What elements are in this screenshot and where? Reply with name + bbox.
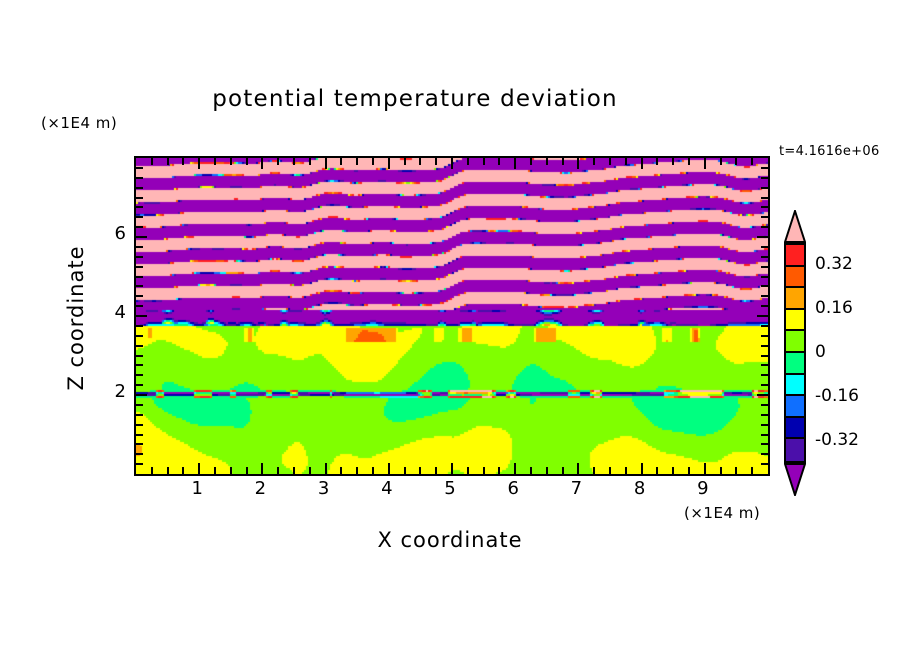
x-axis-tick (246, 467, 248, 474)
x-axis-tick (625, 467, 627, 474)
page-title: potential temperature deviation (0, 86, 830, 112)
z-axis-tick (136, 355, 143, 357)
x-axis-tick-label: 3 (304, 478, 344, 499)
z-axis-tick-right (761, 463, 768, 465)
z-axis-tick-right (757, 236, 768, 238)
x-axis-tick (435, 467, 437, 474)
z-axis-tick-right (761, 404, 768, 406)
z-axis-tick (136, 434, 143, 436)
x-axis-tick-top (182, 158, 184, 165)
x-axis-tick-top (467, 158, 469, 165)
x-axis-tick-top (309, 158, 311, 165)
z-axis-unit-label: (×1E4 m) (41, 114, 117, 132)
z-axis-tick-right (761, 295, 768, 297)
x-axis-tick (261, 463, 263, 474)
x-axis-tick-top (167, 158, 169, 165)
x-axis-tick (609, 467, 611, 474)
x-axis-tick (641, 463, 643, 474)
x-axis-tick-top (340, 158, 342, 165)
x-axis-tick-top (483, 158, 485, 165)
x-axis-unit-label: (×1E4 m) (684, 504, 760, 522)
z-axis-tick-right (761, 246, 768, 248)
x-axis-tick (340, 467, 342, 474)
x-axis-tick-top (562, 158, 564, 165)
x-axis-tick-top (261, 158, 263, 169)
colorbar-band (786, 310, 804, 332)
colorbar-gradient (784, 243, 806, 463)
x-axis-tick-top (751, 158, 753, 165)
z-axis-tick-right (761, 187, 768, 189)
x-axis-tick (309, 467, 311, 474)
x-axis-tick (325, 463, 327, 474)
x-axis-tick-top (198, 158, 200, 169)
time-annotation: t=4.1616e+06 (779, 144, 880, 159)
x-axis-tick (704, 463, 706, 474)
x-axis-tick (467, 467, 469, 474)
colorbar-band (786, 267, 804, 289)
z-axis-tick (136, 226, 143, 228)
z-axis-tick-right (761, 414, 768, 416)
colorbar-tick-label: 0 (815, 342, 826, 362)
x-axis-tick (514, 463, 516, 474)
z-axis-tick (136, 276, 143, 278)
z-axis-tick (136, 315, 147, 317)
x-axis-tick (372, 467, 374, 474)
z-axis-tick (136, 177, 143, 179)
z-axis-tick (136, 404, 143, 406)
x-axis-tick (198, 463, 200, 474)
colorbar-tick-label: -0.16 (815, 386, 859, 406)
x-axis-tick-top (498, 158, 500, 165)
x-axis-tick-top (356, 158, 358, 165)
colorbar-band (786, 331, 804, 353)
colorbar-band (786, 353, 804, 375)
x-axis-tick-top (419, 158, 421, 165)
colorbar-band (786, 245, 804, 267)
x-axis-tick (419, 467, 421, 474)
x-axis-tick (672, 467, 674, 474)
x-axis-tick (546, 467, 548, 474)
colorbar-band (786, 439, 804, 461)
x-axis-tick-top (577, 158, 579, 169)
z-axis-tick (136, 256, 143, 258)
z-axis-tick-right (761, 206, 768, 208)
x-axis-tick (277, 467, 279, 474)
z-axis-tick-right (761, 345, 768, 347)
y-axis-title: Z coordinate (64, 208, 88, 428)
z-axis-tick-right (761, 453, 768, 455)
x-axis-tick (735, 467, 737, 474)
x-axis-tick-top (720, 158, 722, 165)
z-axis-tick (136, 453, 143, 455)
colorbar-band (786, 375, 804, 397)
x-axis-tick (293, 467, 295, 474)
z-axis-tick-right (761, 364, 768, 366)
x-axis-tick-top (593, 158, 595, 165)
colorbar-band (786, 288, 804, 310)
z-axis-tick-label: 4 (86, 302, 126, 323)
z-axis-tick-right (761, 276, 768, 278)
z-axis-tick-right (761, 216, 768, 218)
x-axis-tick-top (546, 158, 548, 165)
colorbar-tick-label: 0.16 (815, 298, 853, 318)
x-axis-tick-top (735, 158, 737, 165)
x-axis-tick (356, 467, 358, 474)
colorbar-tick-label: -0.32 (815, 430, 859, 450)
z-axis-tick-right (761, 374, 768, 376)
z-axis-tick (136, 305, 143, 307)
x-axis-tick-top (656, 158, 658, 165)
z-axis-tick (136, 325, 143, 327)
z-axis-tick-right (761, 434, 768, 436)
z-axis-tick (136, 246, 143, 248)
z-axis-tick-label: 2 (86, 381, 126, 402)
z-axis-tick (136, 266, 143, 268)
z-axis-tick (136, 197, 143, 199)
contour-plot-area (134, 156, 770, 476)
x-axis-tick-top (246, 158, 248, 165)
z-axis-tick-right (761, 177, 768, 179)
z-axis-tick-right (761, 443, 768, 445)
z-axis-tick (136, 424, 143, 426)
z-axis-tick-right (761, 256, 768, 258)
x-axis-tick (167, 467, 169, 474)
z-axis-tick-right (757, 315, 768, 317)
x-axis-tick-top (625, 158, 627, 165)
x-axis-tick-top (325, 158, 327, 169)
x-axis-tick-top (530, 158, 532, 165)
x-axis-tick (530, 467, 532, 474)
x-axis-tick-label: 6 (493, 478, 533, 499)
colorbar-band (786, 396, 804, 418)
z-axis-tick-right (757, 394, 768, 396)
x-axis-tick (593, 467, 595, 474)
z-axis-tick (136, 414, 143, 416)
z-axis-tick (136, 374, 143, 376)
z-axis-tick-right (761, 424, 768, 426)
colorbar-tick-label: 0.32 (815, 254, 853, 274)
z-axis-tick (136, 384, 143, 386)
x-axis-tick-top (404, 158, 406, 165)
x-axis-tick (656, 467, 658, 474)
z-axis-tick (136, 345, 143, 347)
x-axis-tick (688, 467, 690, 474)
x-axis-tick-top (451, 158, 453, 169)
x-axis-tick-top (609, 158, 611, 165)
x-axis-tick-label: 5 (430, 478, 470, 499)
x-axis-tick (577, 463, 579, 474)
x-axis-tick (451, 463, 453, 474)
z-axis-tick (136, 295, 143, 297)
x-axis-title: X coordinate (134, 528, 766, 552)
z-axis-tick-right (761, 167, 768, 169)
x-axis-tick-top (230, 158, 232, 165)
x-axis-tick (720, 467, 722, 474)
x-axis-tick-top (293, 158, 295, 165)
z-axis-tick (136, 463, 143, 465)
z-axis-tick (136, 216, 143, 218)
x-axis-tick-label: 7 (556, 478, 596, 499)
x-axis-tick (214, 467, 216, 474)
x-axis-tick-top (372, 158, 374, 165)
z-axis-tick-right (761, 335, 768, 337)
z-axis-tick (136, 394, 147, 396)
z-axis-tick-right (761, 197, 768, 199)
z-axis-tick-right (761, 355, 768, 357)
x-axis-tick-label: 4 (367, 478, 407, 499)
x-axis-tick-top (277, 158, 279, 165)
z-axis-tick-right (761, 305, 768, 307)
x-axis-tick-top (435, 158, 437, 165)
z-axis-tick (136, 443, 143, 445)
x-axis-tick-label: 1 (177, 478, 217, 499)
x-axis-tick-top (688, 158, 690, 165)
x-axis-tick-label: 9 (683, 478, 723, 499)
x-axis-tick (498, 467, 500, 474)
x-axis-tick-top (672, 158, 674, 165)
z-axis-tick-right (761, 266, 768, 268)
z-axis-tick (136, 206, 143, 208)
x-axis-tick-top (151, 158, 153, 165)
x-axis-tick (483, 467, 485, 474)
z-axis-tick (136, 187, 143, 189)
z-axis-tick (136, 285, 143, 287)
z-axis-tick (136, 364, 143, 366)
colorbar-over-arrow-icon (784, 210, 806, 243)
x-axis-tick (388, 463, 390, 474)
z-axis-tick-right (761, 384, 768, 386)
z-axis-tick-right (761, 226, 768, 228)
contour-field-canvas (136, 158, 768, 474)
z-axis-tick-label: 6 (86, 223, 126, 244)
x-axis-tick-top (704, 158, 706, 169)
z-axis-tick-right (761, 285, 768, 287)
z-axis-tick (136, 335, 143, 337)
x-axis-tick-top (214, 158, 216, 165)
x-axis-tick-label: 2 (240, 478, 280, 499)
z-axis-tick (136, 236, 147, 238)
x-axis-tick (562, 467, 564, 474)
x-axis-tick-label: 8 (620, 478, 660, 499)
x-axis-tick (404, 467, 406, 474)
x-axis-tick (182, 467, 184, 474)
x-axis-tick (751, 467, 753, 474)
x-axis-tick-top (388, 158, 390, 169)
x-axis-tick (230, 467, 232, 474)
x-axis-tick (151, 467, 153, 474)
z-axis-tick-right (761, 325, 768, 327)
colorbar-band (786, 418, 804, 440)
z-axis-tick (136, 167, 143, 169)
x-axis-tick-top (641, 158, 643, 169)
colorbar-under-arrow-icon (784, 463, 806, 496)
x-axis-tick-top (514, 158, 516, 169)
